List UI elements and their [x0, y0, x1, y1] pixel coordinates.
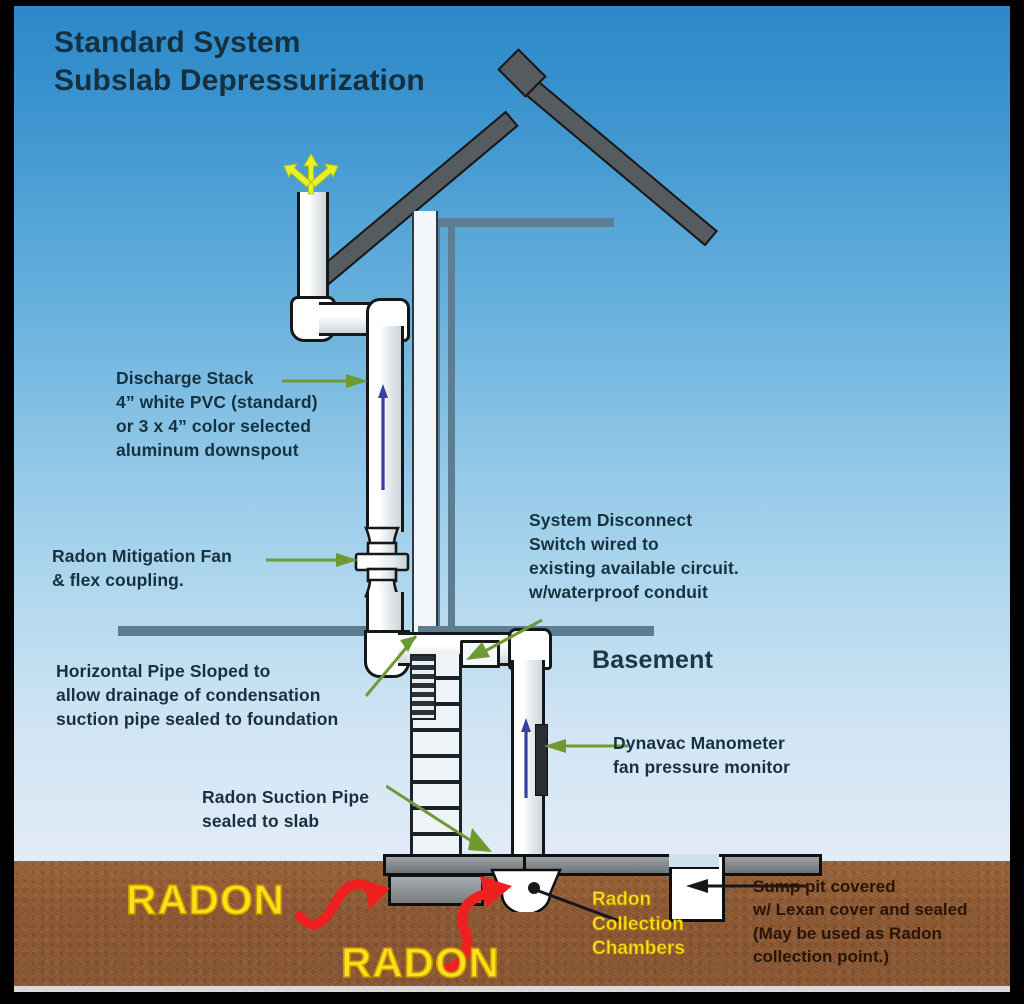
- callout-leader-disconnect: [462, 616, 544, 660]
- label-discharge-stack: Discharge Stack 4” white PVC (standard) …: [116, 366, 366, 463]
- label-manometer: Dynavac Manometer fan pressure monitor: [613, 731, 843, 779]
- wall-cavity: [412, 211, 438, 648]
- bottom-strip: [14, 986, 1010, 992]
- discharge-stack-pipe: [297, 192, 329, 304]
- label-radon-fan: Radon Mitigation Fan & flex coupling.: [52, 544, 277, 592]
- label-collection-chambers: Radon Collection Chambers: [592, 888, 685, 962]
- label-basement: Basement: [592, 646, 713, 675]
- wall-outer-line: [448, 220, 455, 648]
- radon-label-2: RADON: [341, 939, 500, 987]
- airflow-arrow-stack-icon: [376, 384, 390, 490]
- diagram-frame: Standard System Subslab Depressurization…: [14, 6, 1010, 992]
- page-title: Standard System Subslab Depressurization: [54, 24, 425, 100]
- label-horizontal-pipe: Horizontal Pipe Sloped to allow drainage…: [56, 659, 396, 731]
- radon-label-1: RADON: [126, 876, 285, 924]
- sump-pit-lexan-cover: [669, 854, 719, 869]
- grade-line-left: [118, 626, 370, 636]
- diagram-stage: Standard System Subslab Depressurization…: [0, 0, 1024, 1004]
- label-sump-pit: Sump pit covered w/ Lexan cover and seal…: [753, 875, 1008, 969]
- label-suction-pipe: Radon Suction Pipe sealed to slab: [202, 785, 412, 833]
- label-system-disconnect: System Disconnect Switch wired to existi…: [529, 508, 789, 605]
- vent-arrows-icon: [280, 152, 342, 200]
- callout-leader-radon-fan: [266, 552, 358, 568]
- airflow-arrow-suction-icon: [519, 718, 533, 798]
- ceiling-beam-right: [434, 218, 610, 227]
- radon-flow-arrow-1: [296, 872, 416, 934]
- dynavac-manometer: [535, 724, 548, 796]
